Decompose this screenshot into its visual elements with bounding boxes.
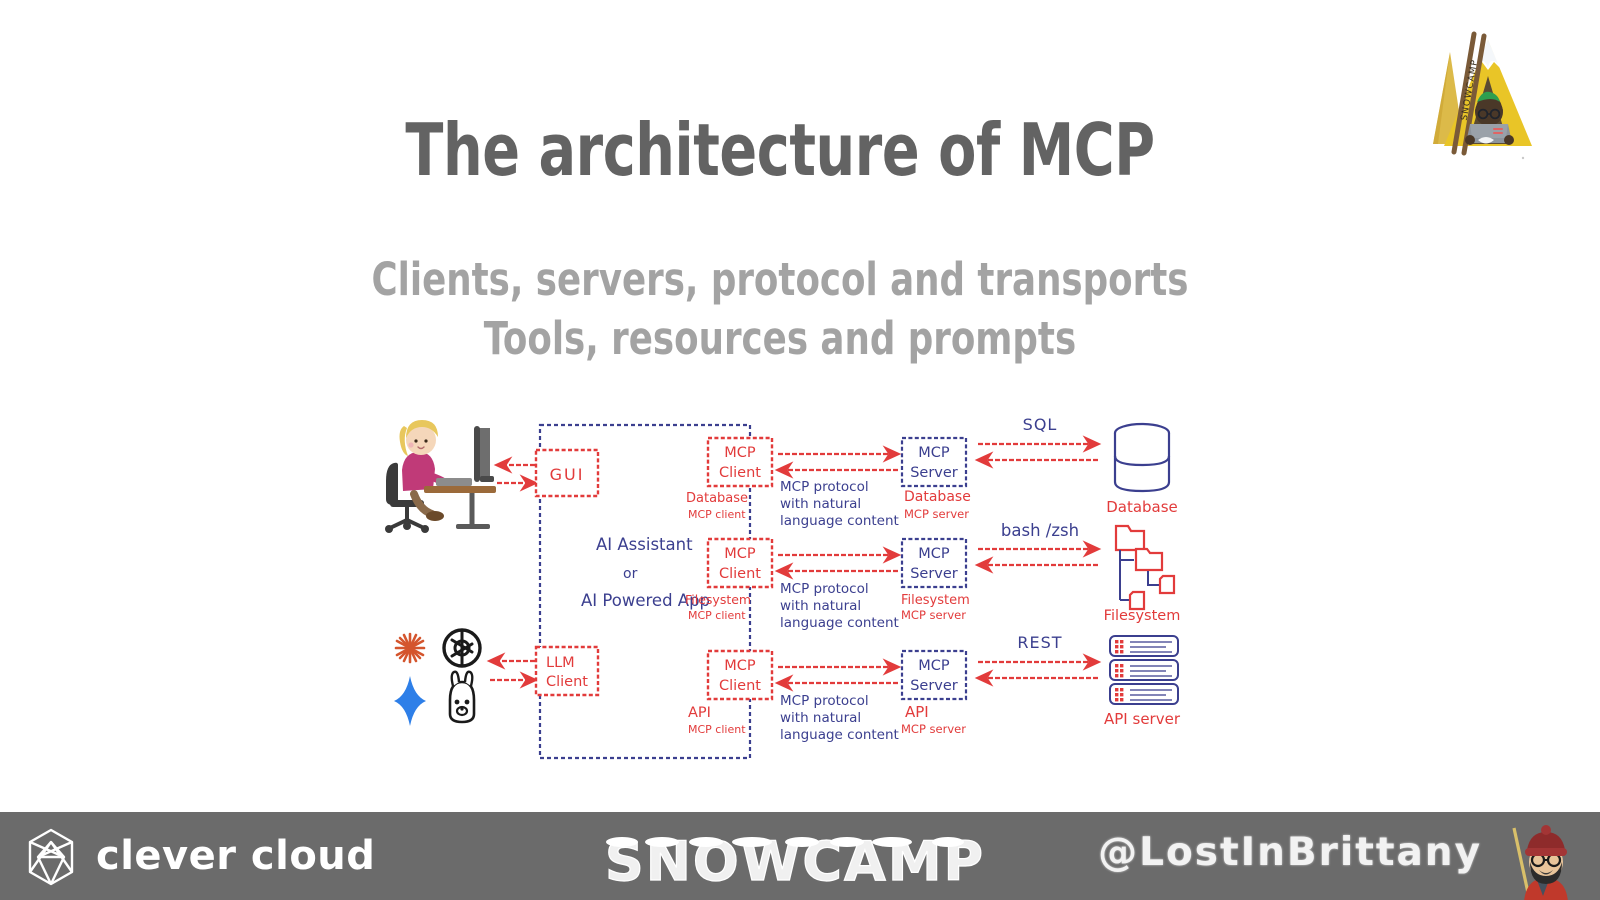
speaker-handle: @LostInBrittany [1098, 830, 1482, 875]
folder-tree-icon [1116, 526, 1174, 609]
subtitle-block: Clients, servers, protocol and transport… [0, 250, 1560, 369]
mcp-client-box-api[interactable]: MCP Client API MCP client [688, 651, 772, 736]
footer-bar: clever cloud SNOWCAMP @LostInBrittany [0, 812, 1600, 900]
row-api: MCP Client API MCP client MCP protocol w… [688, 633, 1181, 743]
mcp-client-box-filesystem[interactable]: MCP Client Filesystem MCP client [685, 539, 772, 622]
transport-arrows-rest [978, 662, 1098, 678]
mcp-client-caption-2: MCP client [688, 723, 746, 736]
gui-box-label: GUI [550, 465, 585, 484]
protocol-label-3: language content [780, 615, 899, 631]
mcp-server-box-api[interactable]: MCP Server API MCP server [901, 651, 966, 736]
llm-client-box[interactable]: LLM Client [536, 647, 598, 695]
mcp-client-title-1: MCP [724, 546, 756, 562]
openai-icon [444, 630, 480, 666]
protocol-label-1: MCP protocol [780, 479, 869, 495]
mcp-client-caption-1: API [688, 705, 711, 721]
subtitle-line-1: Clients, servers, protocol and transport… [94, 250, 1467, 309]
mcp-server-caption-2: MCP server [904, 507, 969, 521]
llm-client-label-1: LLM [546, 655, 575, 671]
mcp-architecture-diagram: AI Assistant or AI Powered App GUI LLM C… [380, 408, 1210, 773]
clever-cloud-logo [20, 826, 82, 888]
mcp-client-title-2: Client [719, 566, 761, 582]
person-at-desk-icon [385, 420, 496, 533]
container-label-line-2: or [623, 566, 638, 582]
mcp-server-caption-2: MCP server [901, 608, 966, 622]
slide-root: SNOWCAMP The architecture of MCP Clients… [0, 0, 1600, 900]
resource-label-database: Database [1106, 498, 1178, 516]
mcp-client-caption-1: Database [686, 491, 748, 506]
mcp-client-box-database[interactable]: MCP Client Database MCP client [686, 438, 772, 521]
protocol-label-2: with natural [780, 598, 861, 614]
mcp-client-title-1: MCP [724, 658, 756, 674]
protocol-label-3: language content [780, 513, 899, 529]
row-database: MCP Client Database MCP client MCP proto… [686, 415, 1178, 529]
resource-label-filesystem: Filesystem [1104, 608, 1181, 624]
mcp-server-box-filesystem[interactable]: MCP Server Filesystem MCP server [901, 539, 970, 622]
container-label-line-1: AI Assistant [596, 535, 693, 554]
database-cylinder-icon [1115, 424, 1169, 491]
transport-label-sql: SQL [1023, 415, 1058, 434]
mcp-server-title-1: MCP [918, 658, 950, 674]
mcp-client-caption-2: MCP client [688, 508, 746, 521]
resource-label-api: API server [1104, 710, 1181, 728]
mcp-client-title-1: MCP [724, 445, 756, 461]
transport-arrows-bash [978, 549, 1098, 565]
gui-box[interactable]: GUI [536, 450, 598, 496]
mcp-server-caption-1: Filesystem [901, 593, 970, 608]
snowcamp-wordmark: SNOWCAMP [570, 824, 1020, 896]
llm-client-label-2: Client [546, 674, 588, 690]
mcp-server-title-1: MCP [918, 546, 950, 562]
protocol-label-1: MCP protocol [780, 581, 869, 597]
api-server-rack-icon [1110, 636, 1178, 704]
protocol-label-2: with natural [780, 496, 861, 512]
mcp-server-title-1: MCP [918, 445, 950, 461]
mcp-server-title-2: Server [910, 678, 958, 694]
subtitle-line-2: Tools, resources and prompts [94, 309, 1467, 368]
transport-label-bash: bash /zsh [1001, 521, 1079, 540]
protocol-label-2: with natural [780, 710, 861, 726]
mcp-protocol-arrows-database [778, 454, 898, 470]
mcp-server-title-2: Server [910, 465, 958, 481]
mcp-server-caption-1: API [905, 703, 929, 721]
mcp-server-box-database[interactable]: MCP Server Database MCP server [902, 438, 971, 521]
protocol-label-1: MCP protocol [780, 693, 869, 709]
page-title: The architecture of MCP [109, 108, 1451, 192]
mcp-protocol-arrows-filesystem [778, 555, 898, 571]
arrow-llm-client [490, 661, 535, 680]
clever-cloud-wordmark: clever cloud [96, 833, 375, 879]
mcp-client-caption-2: MCP client [688, 609, 746, 622]
mcp-client-title-2: Client [719, 465, 761, 481]
mcp-server-title-2: Server [910, 566, 958, 582]
transport-label-rest: REST [1017, 633, 1062, 652]
transport-arrows-sql [978, 444, 1098, 460]
row-filesystem: MCP Client Filesystem MCP client MCP pro… [685, 521, 1180, 631]
speaker-avatar [1506, 822, 1586, 900]
mcp-server-caption-2: MCP server [901, 722, 966, 736]
claude-icon [396, 634, 424, 662]
ollama-llama-icon [450, 672, 474, 722]
mcp-client-title-2: Client [719, 678, 761, 694]
mcp-client-caption-1: Filesystem [685, 592, 751, 607]
mcp-protocol-arrows-api [778, 667, 898, 683]
gemini-icon [394, 676, 426, 726]
protocol-label-3: language content [780, 727, 899, 743]
arrow-user-gui [497, 465, 535, 483]
mcp-server-caption-1: Database [904, 489, 971, 505]
